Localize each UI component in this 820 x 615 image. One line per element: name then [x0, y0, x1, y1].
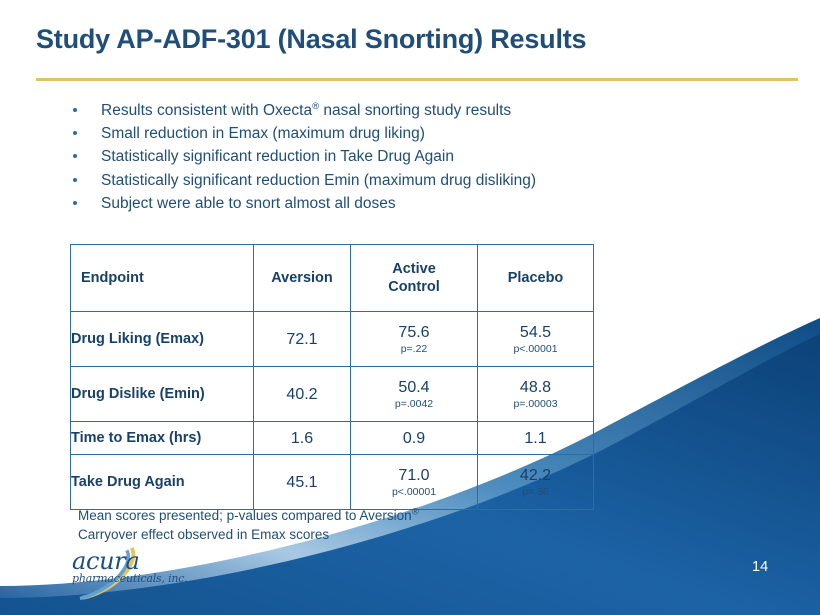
slide-canvas: Study AP-ADF-301 (Nasal Snorting) Result…	[0, 0, 820, 615]
cell-aversion: 40.2	[254, 367, 351, 422]
bullet-text: Results consistent with Oxecta	[101, 102, 312, 119]
bullet-dot-icon	[73, 201, 77, 205]
cell-value-text: 1.1	[524, 430, 546, 447]
page-title: Study AP-ADF-301 (Nasal Snorting) Result…	[36, 24, 796, 55]
cell-value-text: 71.0	[398, 467, 429, 484]
cell-value-text: 1.6	[291, 430, 313, 447]
cell-placebo: 42.2 p=.36	[478, 455, 594, 510]
table-row: Drug Dislike (Emin) 40.2 50.4 p=.0042 48…	[71, 367, 594, 422]
column-header-endpoint: Endpoint	[71, 245, 254, 312]
bullet-text: Small reduction in Emax (maximum drug li…	[101, 125, 425, 142]
cell-active-control: 50.4 p=.0042	[351, 367, 478, 422]
footnote-line-2: Carryover effect observed in Emax scores	[78, 525, 419, 544]
cell-placebo: 54.5 p<.00001	[478, 312, 594, 367]
footnotes: Mean scores presented; p-values compared…	[78, 506, 419, 544]
cell-value-text: 40.2	[286, 386, 317, 403]
cell-pvalue: p<.00001	[478, 343, 593, 356]
title-divider-rule	[36, 78, 798, 81]
cell-active-control: 0.9	[351, 422, 478, 455]
cell-endpoint: Time to Emax (hrs)	[71, 422, 254, 455]
logo-company-name: acura	[72, 549, 188, 573]
bullet-dot-icon	[73, 178, 77, 182]
bullet-text-cont: nasal snorting study results	[319, 102, 511, 119]
logo-text: acura pharmaceuticals, inc.	[72, 549, 188, 585]
results-table: Endpoint Aversion Active Control Placebo…	[70, 244, 594, 510]
cell-value-text: 45.1	[286, 474, 317, 491]
cell-value-text: 0.9	[403, 430, 425, 447]
cell-active-control: 71.0 p<.00001	[351, 455, 478, 510]
list-item: Subject were able to snort almost all do…	[70, 192, 750, 215]
registered-mark: ®	[412, 507, 419, 518]
cell-placebo: 48.8 p=.00003	[478, 367, 594, 422]
page-number: 14	[752, 559, 768, 575]
footnote-line-1: Mean scores presented; p-values compared…	[78, 506, 419, 525]
logo-company-subtitle: pharmaceuticals, inc.	[72, 572, 188, 585]
bullet-dot-icon	[73, 108, 77, 112]
cell-aversion: 1.6	[254, 422, 351, 455]
cell-active-control: 75.6 p=.22	[351, 312, 478, 367]
registered-mark: ®	[312, 101, 319, 112]
column-header-aversion: Aversion	[254, 245, 351, 312]
cell-value-text: 42.2	[520, 467, 551, 484]
cell-endpoint: Take Drug Again	[71, 455, 254, 510]
cell-pvalue: p<.00001	[351, 486, 477, 499]
company-logo: acura pharmaceuticals, inc.	[30, 543, 210, 601]
bullet-text: Statistically significant reduction in T…	[101, 148, 454, 165]
cell-value-text: 54.5	[520, 324, 551, 341]
cell-aversion: 45.1	[254, 455, 351, 510]
column-header-placebo: Placebo	[478, 245, 594, 312]
bullet-dot-icon	[73, 154, 77, 158]
cell-value-text: 75.6	[398, 324, 429, 341]
cell-placebo: 1.1	[478, 422, 594, 455]
cell-endpoint: Drug Dislike (Emin)	[71, 367, 254, 422]
cell-value-text: 48.8	[520, 379, 551, 396]
table-row: Time to Emax (hrs) 1.6 0.9 1.1	[71, 422, 594, 455]
title-block: Study AP-ADF-301 (Nasal Snorting) Result…	[36, 24, 796, 55]
list-item: Statistically significant reduction in T…	[70, 145, 750, 168]
cell-value-text: 72.1	[286, 331, 317, 348]
bullet-text: Subject were able to snort almost all do…	[101, 195, 396, 212]
column-header-active-control: Active Control	[351, 245, 478, 312]
cell-endpoint: Drug Liking (Emax)	[71, 312, 254, 367]
bullet-dot-icon	[73, 131, 77, 135]
footnote-text: Mean scores presented; p-values compared…	[78, 508, 412, 523]
column-header-active-control-line1: Active	[392, 261, 436, 277]
bullet-text: Statistically significant reduction Emin…	[101, 172, 536, 189]
list-item: Results consistent with Oxecta® nasal sn…	[70, 99, 750, 122]
table-row: Take Drug Again 45.1 71.0 p<.00001 42.2 …	[71, 455, 594, 510]
column-header-active-control-line2: Control	[388, 279, 440, 295]
bullet-list: Results consistent with Oxecta® nasal sn…	[70, 99, 750, 215]
cell-pvalue: p=.0042	[351, 398, 477, 411]
cell-pvalue: p=.22	[351, 343, 477, 356]
cell-value-text: 50.4	[398, 379, 429, 396]
table-header-row: Endpoint Aversion Active Control Placebo	[71, 245, 594, 312]
cell-pvalue: p=.36	[478, 486, 593, 499]
table-row: Drug Liking (Emax) 72.1 75.6 p=.22 54.5 …	[71, 312, 594, 367]
list-item: Small reduction in Emax (maximum drug li…	[70, 122, 750, 145]
cell-pvalue: p=.00003	[478, 398, 593, 411]
list-item: Statistically significant reduction Emin…	[70, 169, 750, 192]
cell-aversion: 72.1	[254, 312, 351, 367]
